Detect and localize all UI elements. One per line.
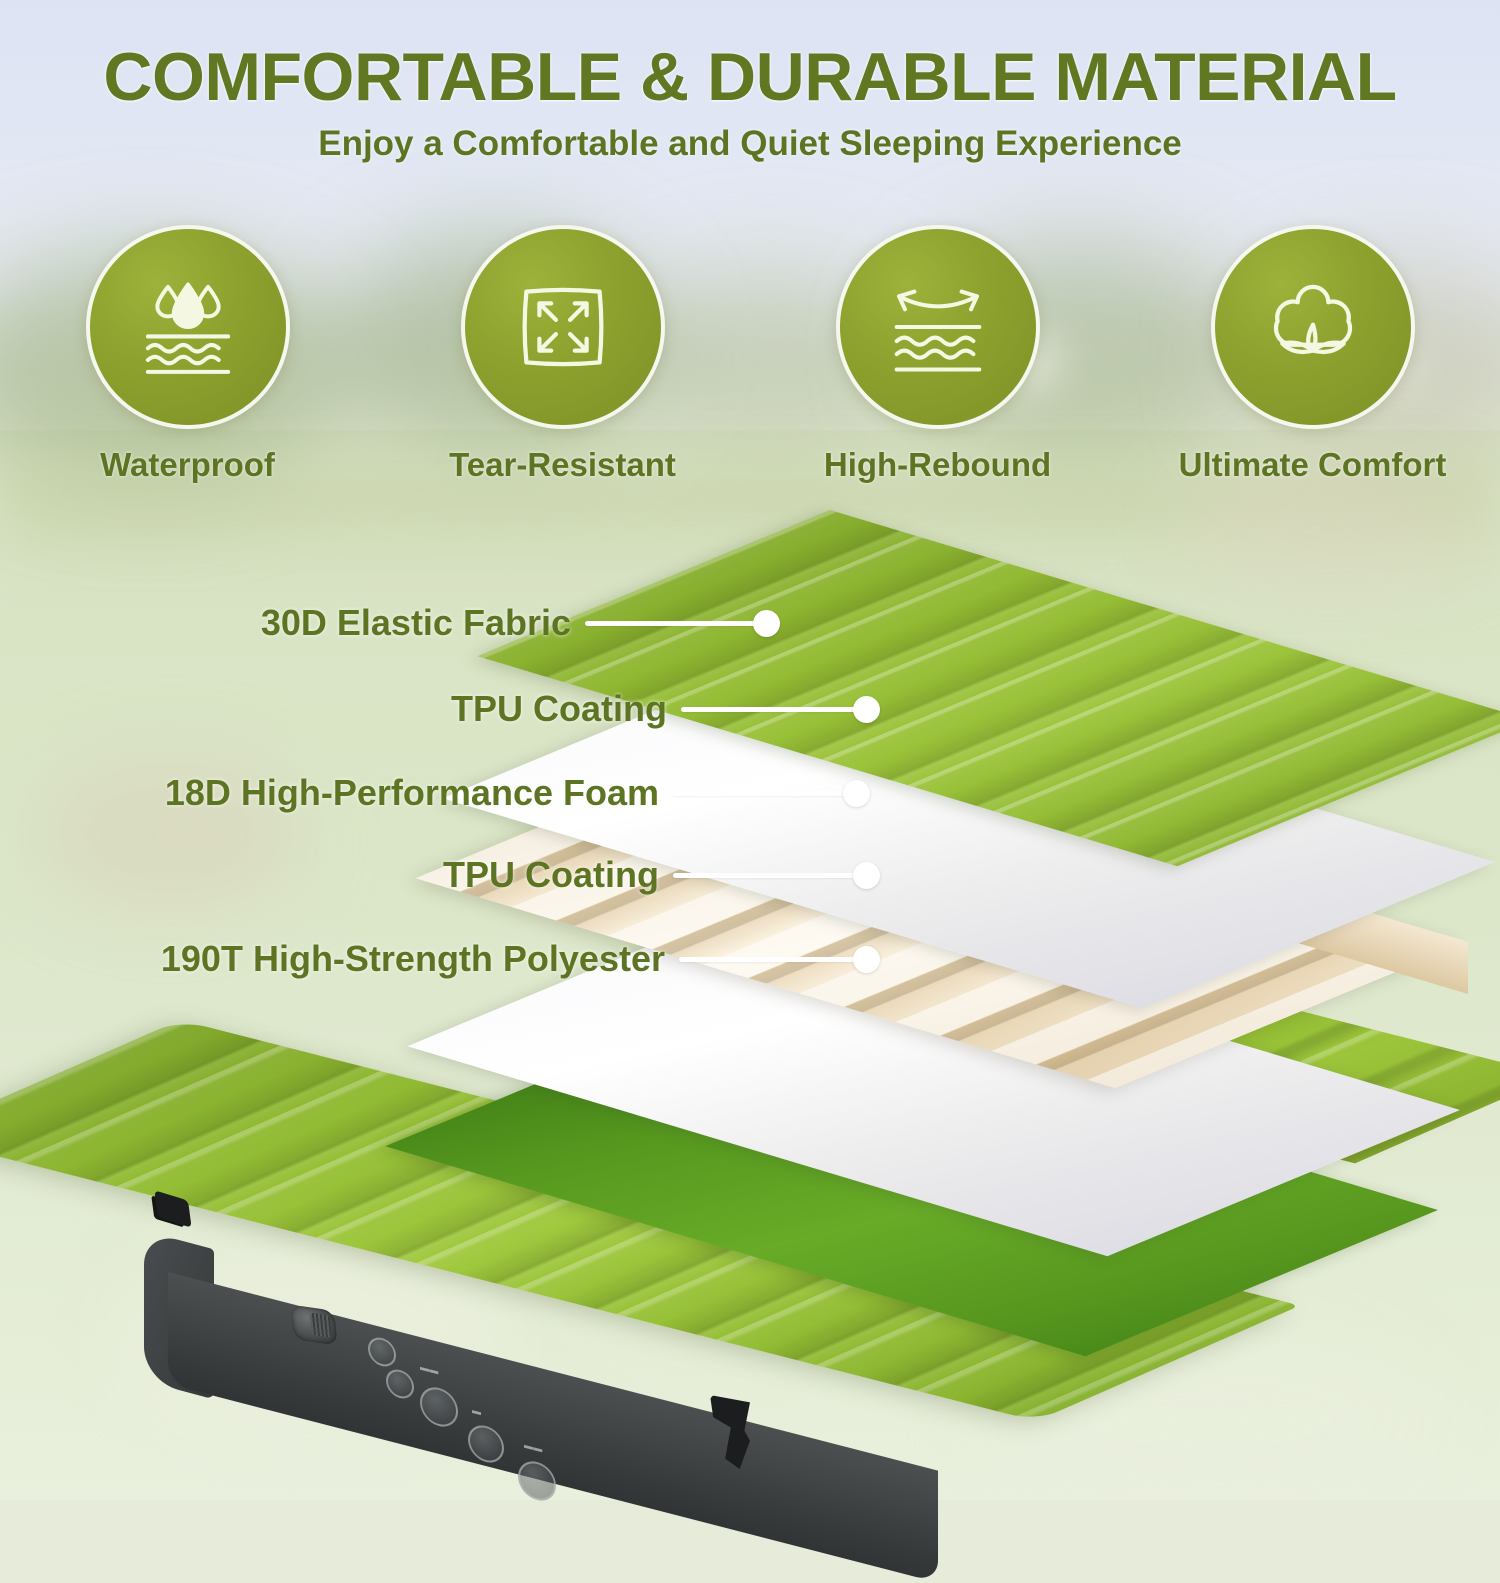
layer-callout: TPU Coating bbox=[451, 688, 880, 730]
layer-label: TPU Coating bbox=[451, 688, 667, 730]
layer-label: 18D High-Performance Foam bbox=[165, 772, 659, 814]
feature-label: Waterproof bbox=[0, 446, 375, 484]
leader-line bbox=[681, 707, 859, 712]
layer-label: 190T High-Strength Polyester bbox=[161, 938, 665, 980]
leader-line bbox=[585, 621, 759, 626]
feature-badge-waterproof: Waterproof bbox=[0, 225, 375, 484]
page-title: COMFORTABLE & DURABLE MATERIAL bbox=[0, 0, 1500, 116]
leader-line bbox=[673, 791, 849, 796]
layer-callouts: 30D Elastic Fabric TPU Coating 18D High-… bbox=[0, 560, 1500, 990]
feature-icon-circle bbox=[86, 225, 290, 429]
header: COMFORTABLE & DURABLE MATERIAL Enjoy a C… bbox=[0, 0, 1500, 164]
leader-dot bbox=[853, 862, 880, 889]
leader-dot bbox=[853, 946, 880, 973]
feature-badge-tear-resistant: Tear-Resistant bbox=[375, 225, 750, 484]
feature-label: Ultimate Comfort bbox=[1125, 446, 1500, 484]
feature-badge-ultimate-comfort: Ultimate Comfort bbox=[1125, 225, 1500, 484]
leader-dot bbox=[853, 696, 880, 723]
feature-badge-row: Waterproof Tear-Resistant bbox=[0, 225, 1500, 484]
feature-badge-high-rebound: High-Rebound bbox=[750, 225, 1125, 484]
leader-dot bbox=[753, 610, 780, 637]
control-microlabel: ▬ bbox=[472, 1405, 481, 1417]
layer-callout: 30D Elastic Fabric bbox=[261, 602, 780, 644]
feature-icon-circle bbox=[1211, 225, 1415, 429]
layer-label: TPU Coating bbox=[443, 854, 659, 896]
page-subtitle: Enjoy a Comfortable and Quiet Sleeping E… bbox=[0, 124, 1500, 164]
layer-label: 30D Elastic Fabric bbox=[261, 602, 571, 644]
layer-callout: TPU Coating bbox=[443, 854, 880, 896]
feature-icon-circle bbox=[461, 225, 665, 429]
feature-label: High-Rebound bbox=[750, 446, 1125, 484]
leader-line bbox=[673, 873, 859, 878]
leader-line bbox=[679, 957, 859, 962]
cotton-boll-icon bbox=[1254, 268, 1372, 386]
feature-icon-circle bbox=[836, 225, 1040, 429]
leader-dot bbox=[843, 780, 870, 807]
water-droplets-on-waves-icon bbox=[129, 268, 247, 386]
expand-arrows-square-icon bbox=[504, 268, 622, 386]
layer-callout: 18D High-Performance Foam bbox=[165, 772, 870, 814]
feature-label: Tear-Resistant bbox=[375, 446, 750, 484]
double-arrow-over-waves-icon bbox=[879, 268, 997, 386]
layer-callout: 190T High-Strength Polyester bbox=[161, 938, 880, 980]
